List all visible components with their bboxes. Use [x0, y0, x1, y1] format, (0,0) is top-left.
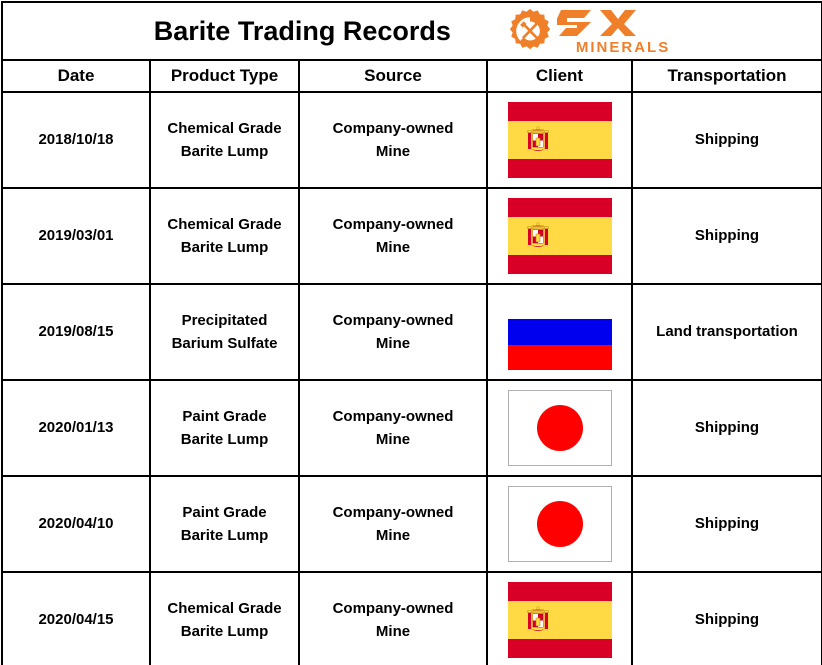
- cell-product-type: Precipitated Barium Sulfate: [150, 284, 299, 380]
- column-header-transportation: Transportation: [632, 60, 822, 92]
- cell-client: [487, 92, 632, 188]
- product-line-2: Barite Lump: [155, 428, 294, 451]
- barite-trading-records-page: Barite Trading Records: [0, 0, 822, 665]
- cell-product-type: Paint Grade Barite Lump: [150, 476, 299, 572]
- page-title: Barite Trading Records: [154, 16, 451, 47]
- date-value: 2020/04/10: [7, 512, 145, 535]
- cell-source: Company-owned Mine: [299, 572, 487, 665]
- spain-coat-of-arms-icon: [527, 606, 549, 634]
- column-header-product-type: Product Type: [150, 60, 299, 92]
- cell-product-type: Paint Grade Barite Lump: [150, 380, 299, 476]
- cell-source: Company-owned Mine: [299, 476, 487, 572]
- trading-records-table: Barite Trading Records: [1, 1, 822, 665]
- table-row: 2019/08/15 Precipitated Barium Sulfate C…: [2, 284, 822, 380]
- transportation-value: Shipping: [637, 416, 817, 439]
- brand-logo: MINERALS: [507, 7, 670, 55]
- cell-source: Company-owned Mine: [299, 284, 487, 380]
- product-line-1: Paint Grade: [155, 501, 294, 524]
- source-line-1: Company-owned: [304, 213, 482, 236]
- product-line-2: Barite Lump: [155, 620, 294, 643]
- source-line-1: Company-owned: [304, 117, 482, 140]
- table-row: 2020/01/13 Paint Grade Barite Lump Compa…: [2, 380, 822, 476]
- spain-coat-of-arms-icon: [527, 126, 549, 154]
- russia-flag-icon: [508, 294, 612, 370]
- cell-transportation: Shipping: [632, 572, 822, 665]
- cell-client: [487, 572, 632, 665]
- product-line-2: Barite Lump: [155, 236, 294, 259]
- source-line-2: Mine: [304, 140, 482, 163]
- transportation-value: Shipping: [637, 512, 817, 535]
- product-line-2: Barite Lump: [155, 524, 294, 547]
- japan-flag-icon: [508, 390, 612, 466]
- brand-subtitle: MINERALS: [576, 40, 670, 55]
- title-banner-row: Barite Trading Records: [2, 2, 822, 60]
- table-row: 2020/04/15 Chemical Grade Barite Lump Co…: [2, 572, 822, 665]
- japan-flag-icon: [508, 486, 612, 562]
- cell-date: 2020/04/10: [2, 476, 150, 572]
- product-line-2: Barium Sulfate: [155, 332, 294, 355]
- table-row: 2019/03/01 Chemical Grade Barite Lump Co…: [2, 188, 822, 284]
- date-value: 2020/01/13: [7, 416, 145, 439]
- product-line-2: Barite Lump: [155, 140, 294, 163]
- product-line-1: Precipitated: [155, 309, 294, 332]
- source-line-1: Company-owned: [304, 309, 482, 332]
- gear-pickaxe-icon: [507, 8, 553, 54]
- product-line-1: Chemical Grade: [155, 597, 294, 620]
- product-line-1: Chemical Grade: [155, 213, 294, 236]
- cell-transportation: Shipping: [632, 476, 822, 572]
- cell-transportation: Land transportation: [632, 284, 822, 380]
- cell-source: Company-owned Mine: [299, 92, 487, 188]
- cell-transportation: Shipping: [632, 380, 822, 476]
- transportation-value: Land transportation: [637, 320, 817, 343]
- column-header-source: Source: [299, 60, 487, 92]
- product-line-1: Chemical Grade: [155, 117, 294, 140]
- date-value: 2020/04/15: [7, 608, 145, 631]
- japan-sun-disc-icon: [537, 501, 583, 547]
- cell-product-type: Chemical Grade Barite Lump: [150, 572, 299, 665]
- cell-date: 2020/04/15: [2, 572, 150, 665]
- source-line-2: Mine: [304, 332, 482, 355]
- spain-flag-icon: [508, 102, 612, 178]
- spain-flag-icon: [508, 198, 612, 274]
- source-line-1: Company-owned: [304, 405, 482, 428]
- source-line-1: Company-owned: [304, 597, 482, 620]
- cell-date: 2020/01/13: [2, 380, 150, 476]
- transportation-value: Shipping: [637, 608, 817, 631]
- cell-client: [487, 284, 632, 380]
- cell-transportation: Shipping: [632, 92, 822, 188]
- source-line-2: Mine: [304, 620, 482, 643]
- cell-client: [487, 188, 632, 284]
- cell-date: 2019/03/01: [2, 188, 150, 284]
- table-row: 2018/10/18 Chemical Grade Barite Lump Co…: [2, 92, 822, 188]
- spain-coat-of-arms-icon: [527, 222, 549, 250]
- table-header-row: Date Product Type Source Client Transpor…: [2, 60, 822, 92]
- date-value: 2018/10/18: [7, 128, 145, 151]
- transportation-value: Shipping: [637, 224, 817, 247]
- brand-wordmark: [557, 8, 639, 42]
- column-header-client: Client: [487, 60, 632, 92]
- cell-product-type: Chemical Grade Barite Lump: [150, 188, 299, 284]
- cell-product-type: Chemical Grade Barite Lump: [150, 92, 299, 188]
- date-value: 2019/08/15: [7, 320, 145, 343]
- cell-client: [487, 380, 632, 476]
- cell-client: [487, 476, 632, 572]
- cell-transportation: Shipping: [632, 188, 822, 284]
- product-line-1: Paint Grade: [155, 405, 294, 428]
- cell-date: 2018/10/18: [2, 92, 150, 188]
- source-line-2: Mine: [304, 236, 482, 259]
- japan-sun-disc-icon: [537, 405, 583, 451]
- cell-source: Company-owned Mine: [299, 188, 487, 284]
- cell-date: 2019/08/15: [2, 284, 150, 380]
- date-value: 2019/03/01: [7, 224, 145, 247]
- spain-flag-icon: [508, 582, 612, 658]
- transportation-value: Shipping: [637, 128, 817, 151]
- title-banner-cell: Barite Trading Records: [2, 2, 822, 60]
- cell-source: Company-owned Mine: [299, 380, 487, 476]
- source-line-1: Company-owned: [304, 501, 482, 524]
- table-row: 2020/04/10 Paint Grade Barite Lump Compa…: [2, 476, 822, 572]
- source-line-2: Mine: [304, 524, 482, 547]
- source-line-2: Mine: [304, 428, 482, 451]
- column-header-date: Date: [2, 60, 150, 92]
